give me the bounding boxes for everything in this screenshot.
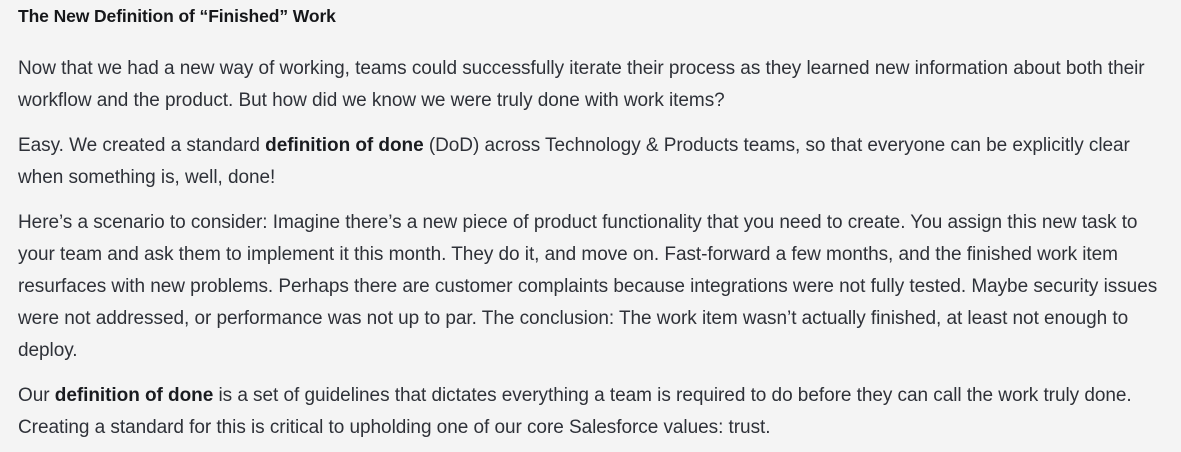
article-paragraph-list: Now that we had a new way of working, te… [18, 53, 1170, 444]
article-body: The New Definition of “Finished” Work No… [0, 0, 1181, 452]
paragraph-text: Easy. We created a standard [18, 135, 265, 156]
paragraph-text: Our [18, 385, 55, 406]
emphasis-term: definition of done [265, 135, 423, 156]
article-paragraph-p4: Our definition of done is a set of guide… [18, 380, 1170, 444]
article-paragraph-p1: Now that we had a new way of working, te… [18, 53, 1170, 117]
paragraph-text: Here’s a scenario to consider: Imagine t… [18, 212, 1157, 361]
article-paragraph-p3: Here’s a scenario to consider: Imagine t… [18, 207, 1170, 367]
article-paragraph-p2: Easy. We created a standard definition o… [18, 130, 1170, 194]
paragraph-text: Now that we had a new way of working, te… [18, 58, 1145, 111]
emphasis-term: definition of done [55, 385, 213, 406]
article-heading: The New Definition of “Finished” Work [18, 2, 1170, 30]
